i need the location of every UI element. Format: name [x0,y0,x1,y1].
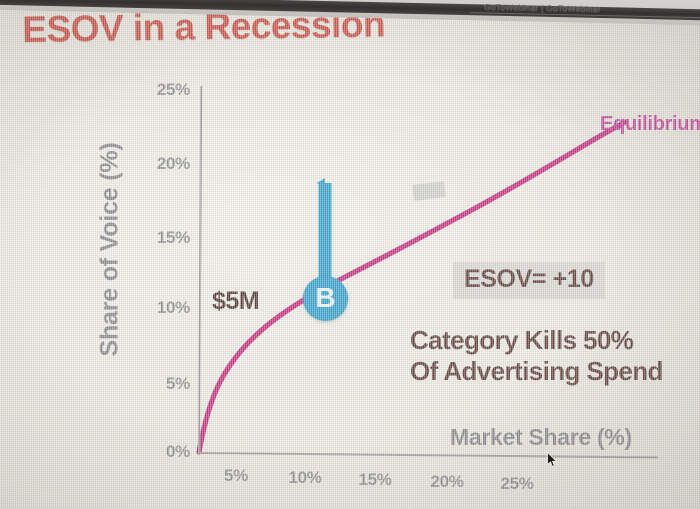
category-kills-note: Category Kills 50% Of Advertising Spend [410,325,663,386]
equilibrium-curve-label: Equilibrium [600,113,700,136]
spend-label-5m: $5M [212,287,259,316]
marker-b-label: B [315,284,335,312]
screenshot-root: 25% 20% 15% 10% 5% 0% 5% 10% 15% 20% 25%… [0,0,700,509]
category-kills-note-line1: Category Kills 50% [410,325,663,356]
esov-value-callout: ESOV= +10 [453,262,605,299]
y-axis-title: Share of Voice (%) [96,85,125,415]
x-tick-25: 25% [487,474,547,494]
window-chrome-strip: GoToWebinar | GoToWebinar [0,0,700,26]
data-point-marker-b: B [303,276,348,321]
x-tick-15: 15% [345,470,405,490]
x-tick-10: 10% [275,468,335,488]
mouse-cursor-icon [547,452,558,468]
category-kills-note-line2: Of Advertising Spend [410,356,663,387]
x-tick-20: 20% [417,472,477,492]
x-tick-5: 5% [206,466,266,486]
x-axis-title: Market Share (%) [450,424,632,451]
